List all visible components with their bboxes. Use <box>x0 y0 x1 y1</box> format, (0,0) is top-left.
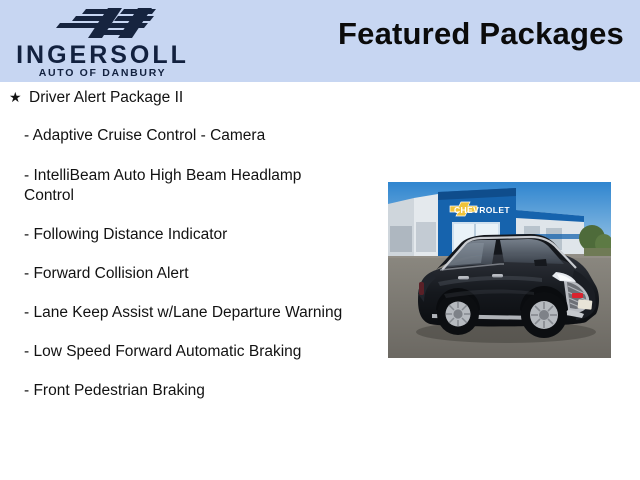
page-title: Featured Packages <box>338 16 624 52</box>
star-bullet-icon: ★ <box>9 88 22 106</box>
svg-text:CHEVROLET: CHEVROLET <box>454 205 510 215</box>
slide-body: ★ Driver Alert Package II - Adaptive Cru… <box>0 82 640 480</box>
package-heading-label: Driver Alert Package II <box>29 89 183 106</box>
feature-list: ★ Driver Alert Package II - Adaptive Cru… <box>0 88 372 402</box>
list-item: - Following Distance Indicator <box>0 225 372 245</box>
brand-lockup: INGERSOLL AUTO OF DANBURY <box>0 2 205 80</box>
package-heading: ★ Driver Alert Package II <box>0 88 372 108</box>
list-item: - Low Speed Forward Automatic Braking <box>0 342 372 362</box>
list-item: - Adaptive Cruise Control - Camera <box>0 126 372 146</box>
list-item: - Lane Keep Assist w/Lane Departure Warn… <box>0 303 372 323</box>
slide-header-band: INGERSOLL AUTO OF DANBURY Featured Packa… <box>0 0 640 82</box>
list-item: - Forward Collision Alert <box>0 264 372 284</box>
list-item: - IntelliBeam Auto High Beam Headlamp Co… <box>0 166 372 206</box>
list-item: - Front Pedestrian Braking <box>0 381 372 401</box>
ingersoll-winged-emblem-icon <box>52 6 164 40</box>
brand-tagline: AUTO OF DANBURY <box>0 68 205 79</box>
feature-group: ★ Driver Alert Package II - Adaptive Cru… <box>0 88 372 402</box>
brand-name: INGERSOLL <box>0 43 205 68</box>
vehicle-photo: CHEVROLET <box>388 182 611 358</box>
